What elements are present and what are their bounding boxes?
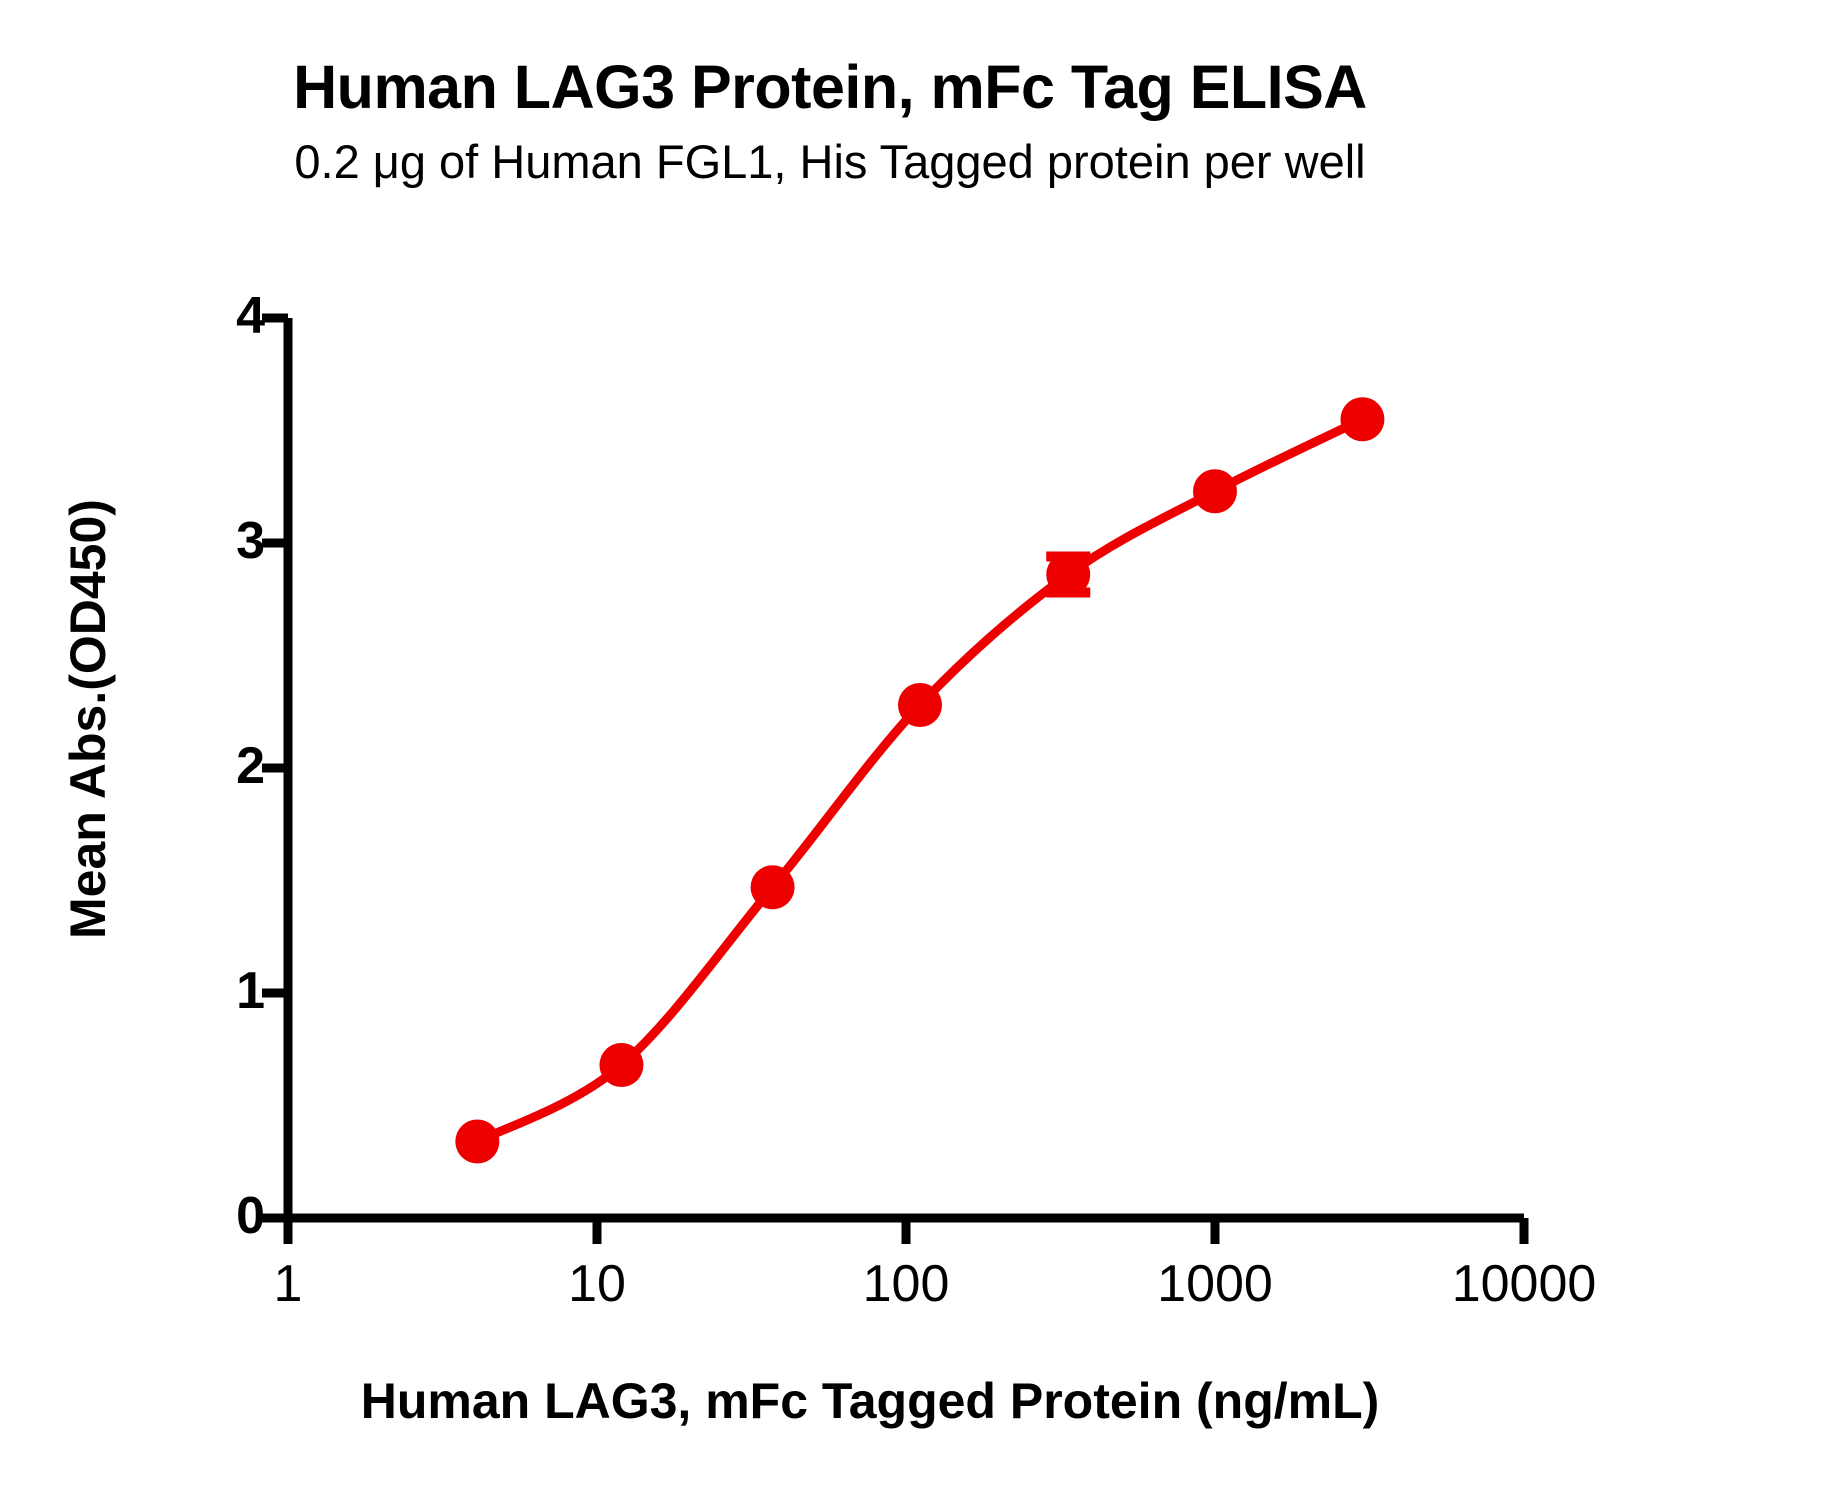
- elisa-chart-figure: Human LAG3 Protein, mFc Tag ELISA 0.2 μg…: [0, 0, 1826, 1508]
- data-point-marker: [898, 683, 942, 727]
- data-series: [455, 397, 1384, 1163]
- data-point-marker: [455, 1120, 499, 1164]
- data-point-marker: [1193, 469, 1237, 513]
- data-point-marker: [1340, 397, 1384, 441]
- axes: [262, 318, 1524, 1244]
- fit-curve-line: [477, 419, 1362, 1141]
- plot-area: [0, 0, 1826, 1508]
- data-point-markers: [455, 397, 1384, 1163]
- data-point-marker: [751, 865, 795, 909]
- data-point-marker: [599, 1043, 643, 1087]
- data-point-marker: [1046, 553, 1090, 597]
